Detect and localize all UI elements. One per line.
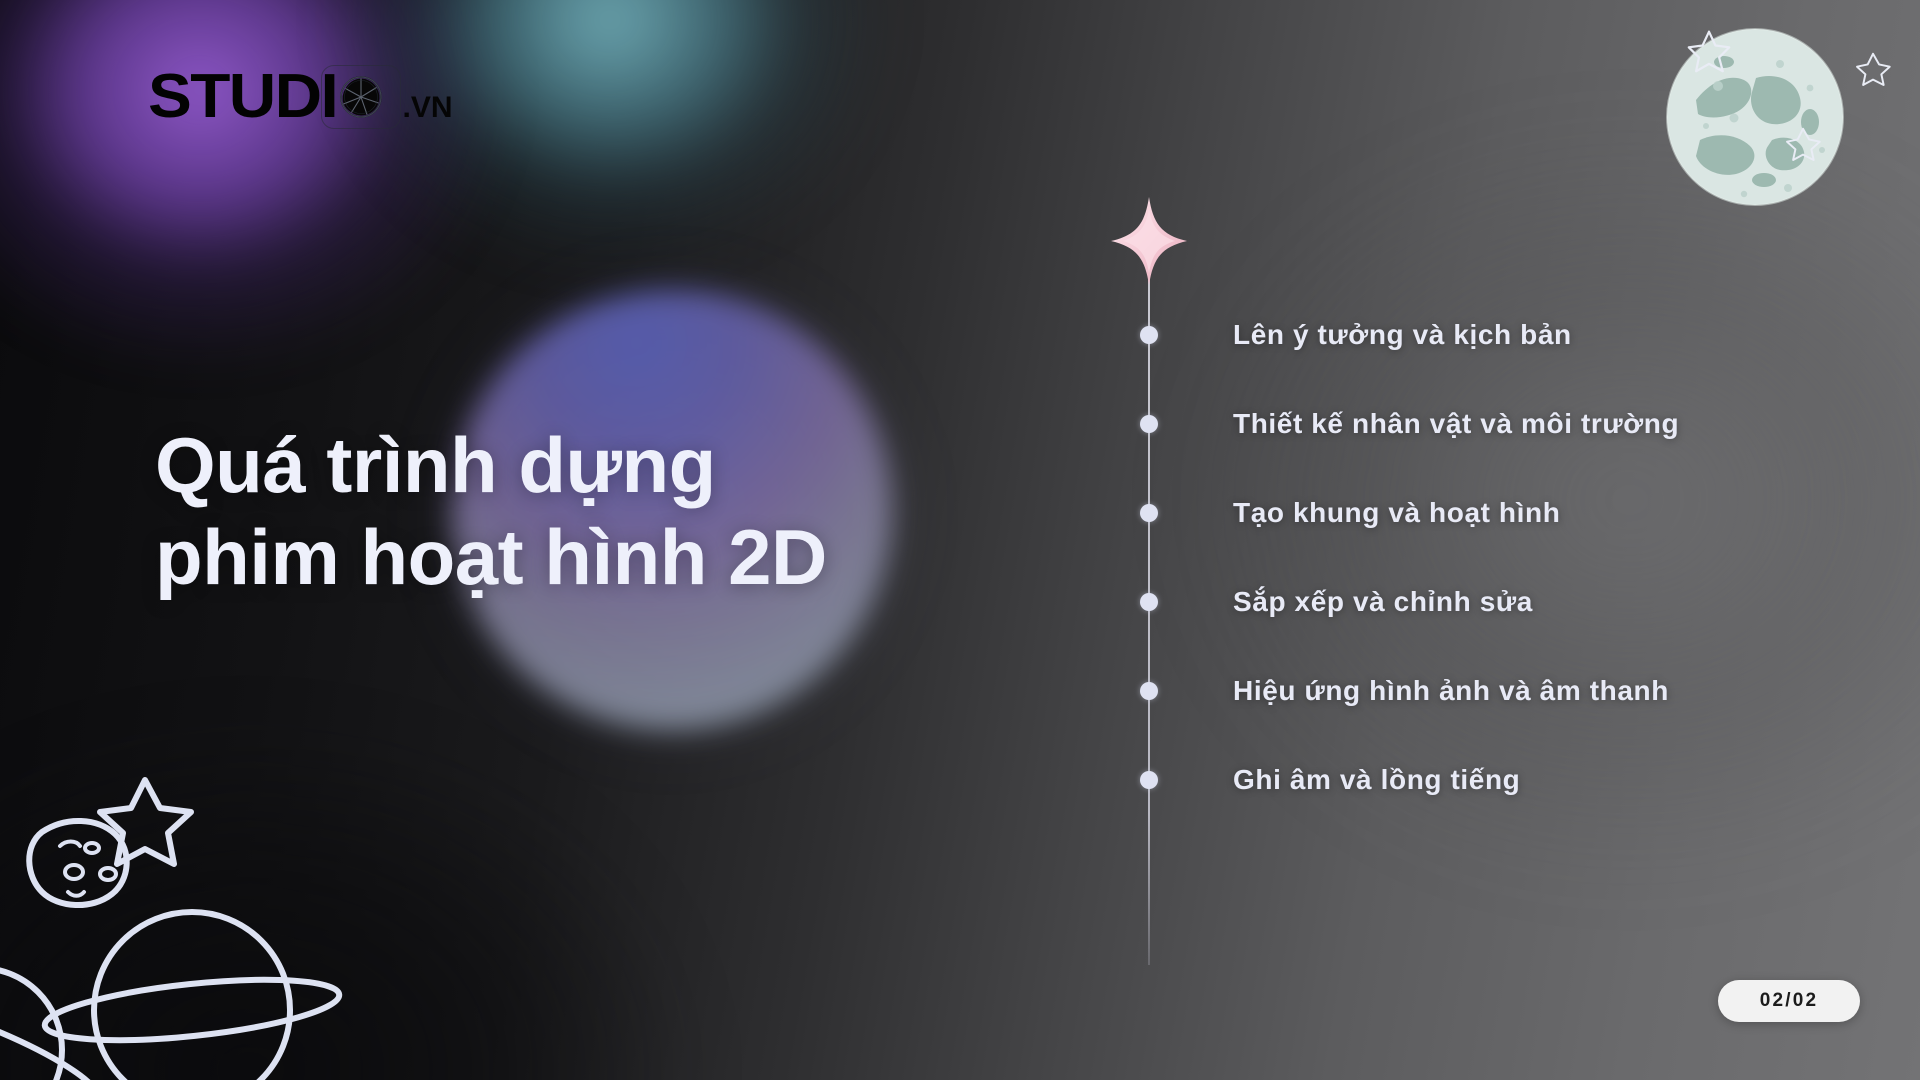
page-number-badge: 02/02 [1718, 980, 1860, 1022]
timeline-step-label: Sắp xếp và chỉnh sửa [1233, 586, 1533, 618]
list-item[interactable]: Lên ý tưởng và kịch bản [1148, 290, 1808, 379]
logo-tld: .VN [403, 91, 453, 125]
list-item[interactable]: Sắp xếp và chỉnh sửa [1148, 557, 1808, 646]
list-item[interactable]: Ghi âm và lồng tiếng [1148, 735, 1808, 824]
list-item[interactable]: Hiệu ứng hình ảnh và âm thanh [1148, 646, 1808, 735]
timeline-dot-icon [1140, 504, 1158, 522]
logo-wordmark: STUDI [148, 66, 337, 128]
timeline-dot-icon [1140, 682, 1158, 700]
list-item[interactable]: Thiết kế nhân vật và môi trường [1148, 379, 1808, 468]
process-timeline: Lên ý tưởng và kịch bản Thiết kế nhân vậ… [1148, 215, 1808, 955]
slide-canvas: STUDI [0, 0, 1920, 1080]
timeline-step-label: Lên ý tưởng và kịch bản [1233, 319, 1572, 351]
camera-aperture-icon [321, 65, 401, 129]
timeline-steps: Lên ý tưởng và kịch bản Thiết kế nhân vậ… [1148, 290, 1808, 824]
timeline-step-label: Hiệu ứng hình ảnh và âm thanh [1233, 675, 1669, 707]
page-title-line-1: Quá trình dựng [155, 420, 1015, 511]
page-title: Quá trình dựng phim hoạt hình 2D [155, 420, 1015, 603]
timeline-dot-icon [1140, 415, 1158, 433]
page-title-line-2: phim hoạt hình 2D [155, 512, 1015, 603]
timeline-step-label: Ghi âm và lồng tiếng [1233, 764, 1520, 796]
brand-logo[interactable]: STUDI [148, 60, 453, 134]
timeline-dot-icon [1140, 326, 1158, 344]
timeline-step-label: Tạo khung và hoạt hình [1233, 497, 1560, 529]
timeline-step-label: Thiết kế nhân vật và môi trường [1233, 408, 1679, 440]
timeline-dot-icon [1140, 771, 1158, 789]
four-point-sparkle-icon [1107, 193, 1191, 297]
list-item[interactable]: Tạo khung và hoạt hình [1148, 468, 1808, 557]
timeline-dot-icon [1140, 593, 1158, 611]
